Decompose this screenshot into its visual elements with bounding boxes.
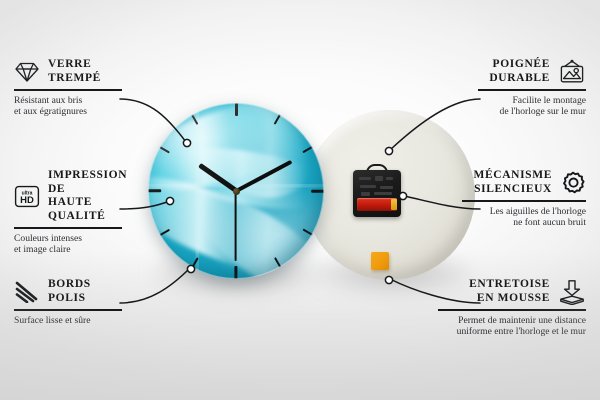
callout-entretoise-en-mousse[interactable]: ENTRETOISE EN MOUSSE Permet de maintenir… <box>438 278 586 338</box>
callout-title-line2: HAUTE QUALITÉ <box>48 196 127 223</box>
callout-title-line1: ENTRETOISE <box>469 278 550 292</box>
callout-bords-polis[interactable]: BORDS POLIS Surface lisse et sûre <box>14 278 122 326</box>
callout-subtitle-line1: Couleurs intenses <box>14 233 122 245</box>
callout-subtitle-line1: Facilite le montage <box>478 95 586 107</box>
callout-impression-haute-qualite[interactable]: ultra HD IMPRESSION DE HAUTE QUALITÉ Cou… <box>14 169 122 256</box>
callout-subtitle-line2: ne font aucun bruit <box>462 217 586 229</box>
callout-mecanisme-silencieux[interactable]: MÉCANISME SILENCIEUX Les aiguilles de l'… <box>462 169 586 229</box>
callout-rule <box>14 309 122 311</box>
callout-rule <box>478 89 586 91</box>
callout-subtitle-line1: Surface lisse et sûre <box>14 315 122 327</box>
callout-title-line1: VERRE <box>48 58 101 72</box>
callout-title-line2: SILENCIEUX <box>473 183 552 197</box>
callout-title-line2: POLIS <box>48 292 91 306</box>
callout-verre-trempe[interactable]: VERRE TREMPÉ Résistant aux bris et aux é… <box>14 58 122 118</box>
battery-positive-terminal <box>391 199 397 210</box>
callout-title-line1: IMPRESSION DE <box>48 169 127 196</box>
callout-title-line1: MÉCANISME <box>473 169 552 183</box>
foam-spacer <box>371 252 389 270</box>
ultra-hd-badge-icon: ultra HD <box>14 185 40 208</box>
callout-subtitle-line1: Les aiguilles de l'horloge <box>462 206 586 218</box>
callout-subtitle-line2: et image claire <box>14 244 122 256</box>
callout-title-line1: POIGNÉE <box>489 58 550 72</box>
callout-rule <box>14 89 122 91</box>
diamond-icon <box>14 61 40 83</box>
callout-title-line2: EN MOUSSE <box>469 292 550 306</box>
callout-rule <box>462 200 586 202</box>
clock-front-face <box>148 103 324 279</box>
callout-title-line2: DURABLE <box>489 72 550 86</box>
hanging-frame-icon <box>558 59 586 84</box>
polished-edges-icon <box>14 281 40 303</box>
callout-rule <box>14 227 122 229</box>
callout-rule <box>438 309 586 311</box>
callout-poignee-durable[interactable]: POIGNÉE DURABLE Facilite le montage de l… <box>478 58 586 118</box>
callout-subtitle-line2: uniforme entre l'horloge et le mur <box>438 326 586 338</box>
callout-title-line1: BORDS <box>48 278 91 292</box>
clock-rim <box>148 103 324 279</box>
foam-spacer-arrow-icon <box>558 279 586 305</box>
callout-subtitle-line1: Résistant aux bris <box>14 95 122 107</box>
callout-subtitle-line2: de l'horloge sur le mur <box>478 106 586 118</box>
callout-subtitle-line2: et aux égratignures <box>14 106 122 118</box>
infographic-canvas: VERRE TREMPÉ Résistant aux bris et aux é… <box>0 0 600 400</box>
callout-title-line2: TREMPÉ <box>48 72 101 86</box>
gear-icon <box>560 170 586 196</box>
ultra-hd-main-text: HD <box>20 195 34 206</box>
callout-subtitle-line1: Permet de maintenir une distance <box>438 315 586 327</box>
